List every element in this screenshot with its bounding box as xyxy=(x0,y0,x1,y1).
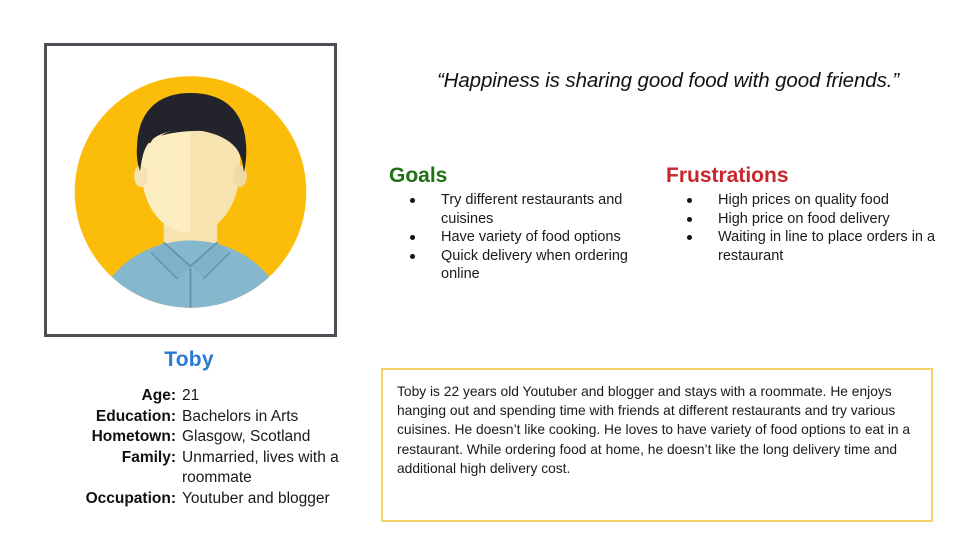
bio-text: Toby is 22 years old Youtuber and blogge… xyxy=(383,370,931,478)
persona-attributes-table: Age: 21 Education: Bachelors in Arts Hom… xyxy=(0,386,378,509)
attribute-value: Glasgow, Scotland xyxy=(181,427,378,448)
table-row: Education: Bachelors in Arts xyxy=(0,407,378,428)
user-avatar-illustration xyxy=(47,46,334,334)
goals-section: Goals Try different restaurants and cuis… xyxy=(389,163,659,284)
attribute-label: Age: xyxy=(0,386,181,407)
attribute-value: Unmarried, lives with a roommate xyxy=(181,448,378,489)
goals-frustrations-row: Goals Try different restaurants and cuis… xyxy=(378,163,958,313)
table-row: Hometown: Glasgow, Scotland xyxy=(0,427,378,448)
attribute-value: 21 xyxy=(181,386,378,407)
attribute-value: Youtuber and blogger xyxy=(181,489,378,510)
persona-name: Toby xyxy=(0,348,378,372)
list-item: Waiting in line to place orders in a res… xyxy=(666,228,948,265)
attribute-label: Family: xyxy=(0,448,181,489)
persona-details-column: “Happiness is sharing good food with goo… xyxy=(378,0,958,540)
bio-box: Toby is 22 years old Youtuber and blogge… xyxy=(381,368,933,522)
avatar-frame xyxy=(44,43,337,337)
list-item: Have variety of food options xyxy=(389,228,659,247)
table-row: Age: 21 xyxy=(0,386,378,407)
attribute-label: Hometown: xyxy=(0,427,181,448)
frustrations-heading: Frustrations xyxy=(666,163,948,188)
goals-heading: Goals xyxy=(389,163,659,188)
persona-board: Toby Age: 21 Education: Bachelors in Art… xyxy=(0,0,958,540)
persona-profile-column: Toby Age: 21 Education: Bachelors in Art… xyxy=(0,0,378,540)
list-item: Quick delivery when ordering online xyxy=(389,247,659,284)
table-row: Family: Unmarried, lives with a roommate xyxy=(0,448,378,489)
list-item: High prices on quality food xyxy=(666,191,948,210)
goals-list: Try different restaurants and cuisines H… xyxy=(389,191,659,284)
list-item: Try different restaurants and cuisines xyxy=(389,191,659,228)
table-row: Occupation: Youtuber and blogger xyxy=(0,489,378,510)
frustrations-list: High prices on quality food High price o… xyxy=(666,191,948,265)
frustrations-section: Frustrations High prices on quality food… xyxy=(666,163,948,265)
attribute-label: Occupation: xyxy=(0,489,181,510)
list-item: High price on food delivery xyxy=(666,210,948,229)
attribute-value: Bachelors in Arts xyxy=(181,407,378,428)
attribute-label: Education: xyxy=(0,407,181,428)
persona-quote: “Happiness is sharing good food with goo… xyxy=(394,66,942,95)
